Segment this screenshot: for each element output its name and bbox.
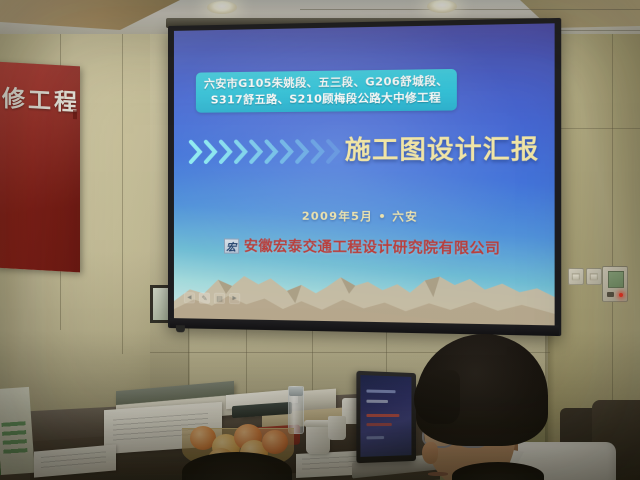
control-panel-button[interactable] [607,292,614,297]
prev-slide-icon[interactable]: ◄ [184,292,195,303]
banner-text-line2: 会 [0,137,80,175]
laptop-screen-line [366,400,388,403]
switch-rocker[interactable] [590,273,598,280]
chevron-arrow-row [188,134,368,169]
ac-control-panel[interactable] [602,266,628,302]
drinking-glass [288,386,304,434]
ceiling-seam [300,9,640,10]
seated-attendee [398,334,608,480]
wall-baseline [548,128,640,129]
screen-hook [176,325,185,332]
pen-icon[interactable]: ✎ [199,292,210,303]
ceiling-downlight-icon [427,0,457,13]
nose [422,442,438,464]
laptop-screen-line [366,390,395,394]
banner-text-line1: 中修工程 [0,83,80,121]
menu-icon[interactable]: ▤ [214,293,225,304]
apple [262,430,288,454]
banner-tab [73,110,77,119]
control-panel-display [608,271,624,288]
coffee-mug [306,424,330,454]
glass-cap [289,387,303,396]
switch-rocker[interactable] [572,273,580,280]
coffee-mug [328,416,346,440]
slide-date-location: 2009年5月 • 六安 [174,207,555,225]
red-wall-banner: 中修工程 会 [0,62,80,273]
slide-company-row: 宏 安徽宏泰交通工程设计研究院有限公司 [174,235,555,259]
laptop-screen-line [366,414,399,417]
slide-project-title-band: 六安市G105朱姚段、五三段、G206舒城段、 S317舒五路、S210顾梅段公… [196,69,457,113]
status-led-icon [619,293,623,297]
company-logo-icon: 宏 [224,238,239,253]
conference-room-photo: 中修工程 会 六安市G105朱姚段、五三段、G206舒城段、 S317舒五路、S… [0,0,640,480]
slide-surface: 六安市G105朱姚段、五三段、G206舒城段、 S317舒五路、S210顾梅段公… [174,23,555,326]
slide-company-name: 安徽宏泰交通工程设计研究院有限公司 [244,236,501,259]
next-slide-icon[interactable]: ► [229,293,240,304]
slideshow-toolbar[interactable]: ◄ ✎ ▤ ► [184,292,240,304]
hair-fringe [414,370,460,424]
slide-heading: 施工图设计汇报 [345,129,550,167]
projection-screen: 六安市G105朱姚段、五三段、G206舒城段、 S317舒五路、S210顾梅段公… [168,18,561,336]
mouth [428,472,448,476]
bag-print [1,421,27,457]
ceiling-downlight-icon [207,1,237,14]
laptop-screen-line [366,423,391,426]
paper-print-lines [41,451,107,471]
light-switch-plate-1[interactable] [568,268,584,285]
slide-project-title: 六安市G105朱姚段、五三段、G206舒城段、 S317舒五路、S210顾梅段公… [198,73,455,110]
light-switch-plate-2[interactable] [586,268,602,285]
laptop-screen-line [366,436,384,439]
mountain-graphic [174,249,555,326]
chevron-right-icon [325,138,343,165]
tote-bag-green-white [0,387,35,475]
